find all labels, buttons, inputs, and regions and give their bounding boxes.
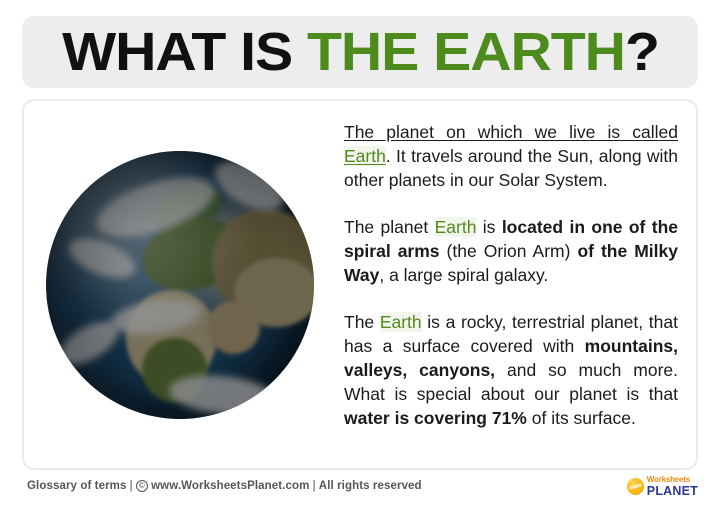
footer: Glossary of terms|© www.WorksheetsPlanet…: [0, 474, 720, 509]
p2-run-3: is: [476, 217, 501, 237]
logo-wordmark: Worksheets PLANET: [647, 476, 698, 498]
paragraph-3: The Earth is a rocky, terrestrial planet…: [344, 310, 678, 430]
p2-run-1: The planet: [344, 217, 435, 237]
title-part-what-is: WHAT IS: [62, 22, 307, 82]
page-title: WHAT IS THE EARTH?: [62, 25, 659, 79]
paragraph-2: The planet Earth is located in one of th…: [344, 215, 678, 287]
p1-run-3: . It travels around the Sun, along with …: [344, 146, 678, 190]
p1-run-1: The planet on which we live is called: [344, 122, 678, 142]
landmass-arabia: [207, 301, 261, 355]
copyright-icon: ©: [136, 480, 148, 492]
p2-run-earth: Earth: [435, 217, 477, 237]
article-text: The planet on which we live is called Ea…: [336, 101, 696, 468]
footer-rights: All rights reserved: [319, 480, 422, 492]
cloud-band-south: [168, 370, 279, 418]
p3-run-water: water is covering 71%: [344, 408, 527, 428]
footer-credit: Glossary of terms|© www.WorksheetsPlanet…: [27, 480, 422, 492]
content-card: The planet on which we live is called Ea…: [22, 99, 698, 470]
worksheet-page: WHAT IS THE EARTH?: [0, 0, 720, 509]
footer-glossary-label: Glossary of terms: [27, 480, 127, 492]
title-part-question-mark: ?: [624, 22, 658, 82]
globe-pane: [24, 101, 336, 468]
p3-run-7: of its surface.: [527, 408, 636, 428]
p2-run-7: , a large spiral galaxy.: [379, 265, 548, 285]
paragraph-1: The planet on which we live is called Ea…: [344, 120, 678, 192]
p2-run-orion: (the Orion Arm): [447, 241, 578, 261]
logo-word-planet: PLANET: [647, 485, 698, 498]
p3-run-earth: Earth: [380, 312, 422, 332]
title-card: WHAT IS THE EARTH?: [22, 16, 698, 88]
planet-icon: [627, 478, 644, 495]
footer-website[interactable]: www.WorksheetsPlanet.com: [151, 480, 309, 492]
cloud-band-west: [64, 230, 141, 286]
worksheets-planet-logo[interactable]: Worksheets PLANET: [627, 476, 698, 498]
logo-word-worksheets: Worksheets: [647, 476, 698, 484]
footer-separator-1: |: [127, 480, 136, 492]
p1-run-earth: Earth: [344, 146, 386, 166]
footer-separator-2: |: [309, 480, 318, 492]
earth-globe-image: [46, 151, 314, 419]
p3-run-1: The: [344, 312, 380, 332]
title-part-the-earth: THE EARTH: [306, 22, 624, 82]
